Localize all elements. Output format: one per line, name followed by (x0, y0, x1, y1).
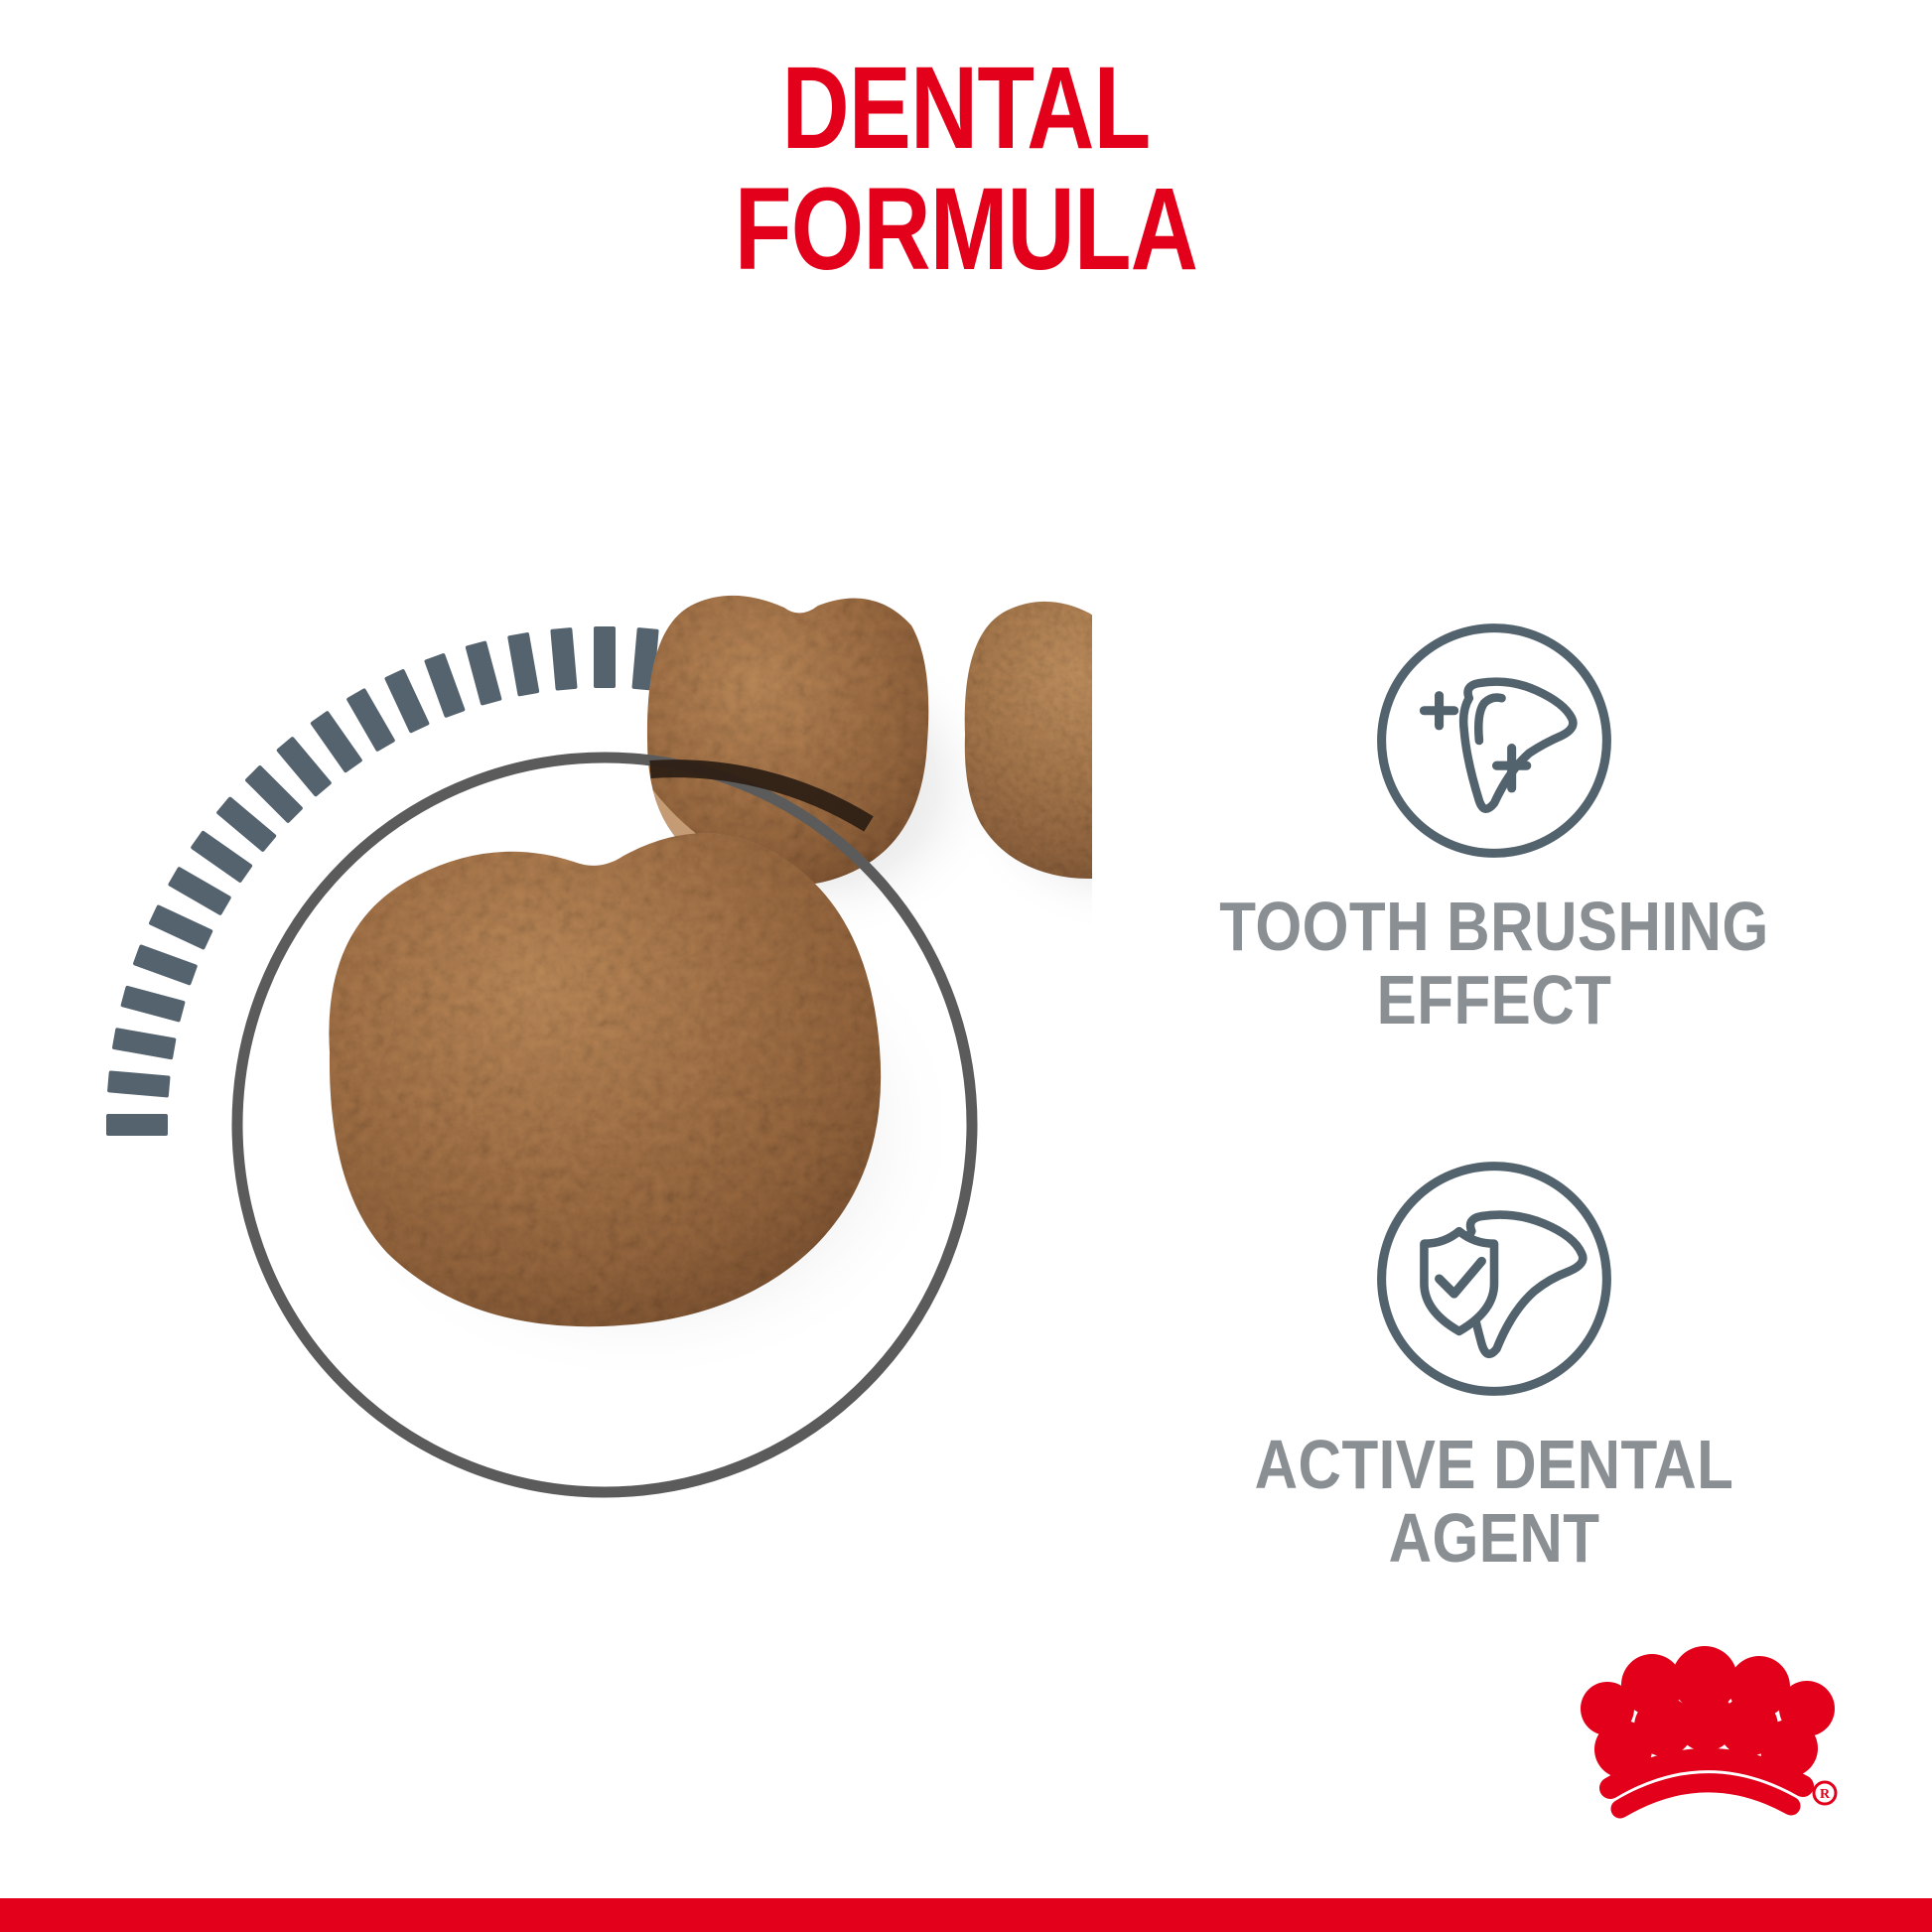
feature-tooth-brushing: TOOTH BRUSHING EFFECT (1112, 616, 1876, 1036)
kibble-magnified-wedge (616, 764, 894, 923)
crown-arc-inner (1620, 1783, 1791, 1809)
magnifier-rim-over-kibble (650, 768, 869, 824)
feature-list: TOOTH BRUSHING EFFECT ACTIVE DENTAL AGEN… (1112, 616, 1876, 1575)
tick-arc (106, 626, 785, 1136)
registered-mark: R (1814, 1782, 1836, 1804)
tooth-plus-icon (1369, 616, 1619, 866)
shadow-large-kibble (308, 867, 963, 1387)
bottom-red-bar (0, 1898, 1932, 1932)
svg-text:R: R (1820, 1787, 1831, 1802)
page-title: DENTAL FORMULA (0, 48, 1932, 290)
feature-active-dental-agent: ACTIVE DENTAL AGENT (1112, 1154, 1876, 1575)
royal-canin-crown-logo: R (1579, 1637, 1876, 1841)
feature-label: ACTIVE DENTAL AGENT (1166, 1428, 1823, 1575)
shadow-small-left (637, 625, 1007, 943)
kibble-small-left (647, 596, 928, 887)
product-feature-panel: DENTAL FORMULA (0, 0, 1932, 1932)
page-title-line-2: FORMULA (194, 169, 1739, 290)
page-title-line-1: DENTAL (194, 48, 1739, 169)
kibble-large-magnified (329, 833, 881, 1326)
magnifier-circle (237, 758, 972, 1492)
feature-label: TOOTH BRUSHING EFFECT (1166, 890, 1823, 1036)
shadow-small-right (951, 628, 1092, 936)
kibble-small-right (965, 602, 1092, 879)
tooth-shield-check-icon (1369, 1154, 1619, 1404)
